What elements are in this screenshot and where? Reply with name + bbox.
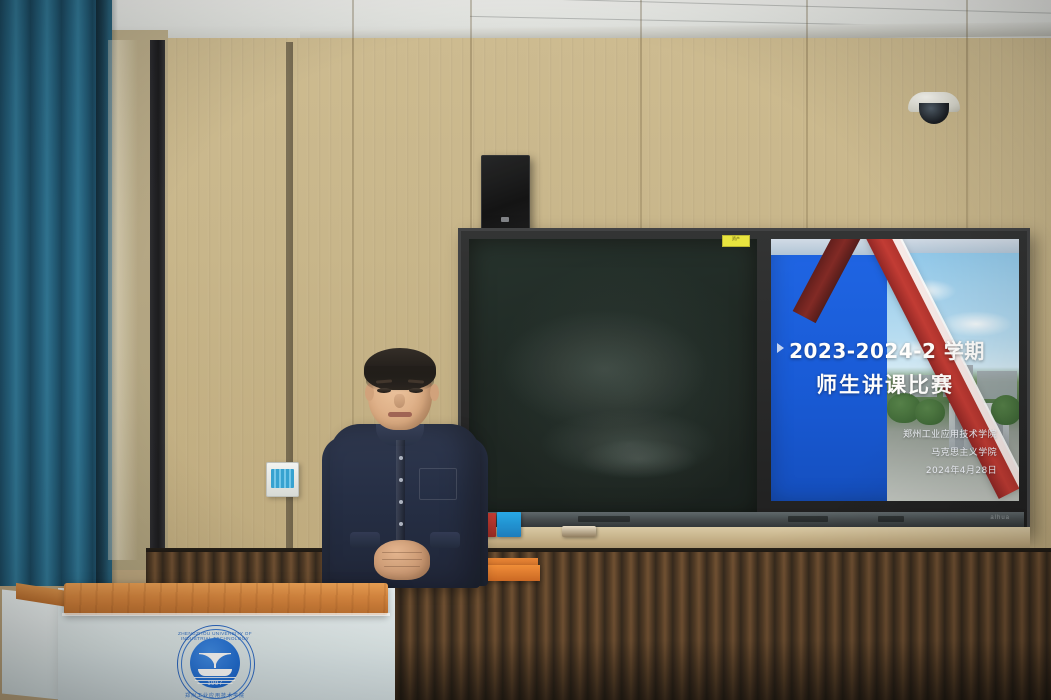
cuff-left bbox=[350, 532, 380, 548]
chalk-tray: alhua bbox=[458, 512, 1024, 527]
dome-camera-icon bbox=[908, 92, 960, 126]
podium-edge-highlight bbox=[62, 613, 390, 616]
asset-label-top: 资产 bbox=[722, 235, 750, 247]
tree bbox=[915, 399, 945, 425]
wall-pillar-trim bbox=[150, 40, 165, 560]
chalkboard bbox=[469, 239, 757, 516]
emblem-book-icon bbox=[198, 669, 232, 676]
slide-org-line-2: 马克思主义学院 bbox=[865, 445, 997, 458]
tray-marking bbox=[788, 516, 828, 522]
shirt-button bbox=[399, 456, 403, 460]
tray-brand-text: alhua bbox=[990, 515, 1010, 521]
emblem-bird-icon bbox=[199, 653, 231, 668]
slide-org-line-1: 郑州工业应用技术学院 bbox=[865, 427, 997, 440]
emblem-year: 1997 bbox=[177, 681, 253, 687]
university-emblem: ZHENGZHOU UNIVERSITY OF INDUSTRIAL TECHN… bbox=[177, 625, 253, 700]
slide-title-line-1: 2023-2024-2 学期 bbox=[771, 335, 1003, 364]
ear-right bbox=[430, 384, 439, 401]
curtain-shadow bbox=[96, 0, 118, 586]
shirt-button bbox=[399, 478, 403, 482]
chalk-box-blue[interactable] bbox=[497, 512, 521, 537]
finger-line bbox=[384, 566, 420, 567]
slide-date-line: 2024年4月28日 bbox=[865, 463, 997, 476]
eye-right bbox=[409, 388, 423, 393]
camera-lens bbox=[919, 103, 949, 124]
finger-line bbox=[382, 559, 422, 560]
emblem-chinese-text: 郑州工业应用技术学院 bbox=[177, 692, 253, 699]
mouth bbox=[388, 412, 412, 417]
hair bbox=[364, 348, 436, 390]
eye-left bbox=[377, 388, 391, 393]
chalk-smudge bbox=[579, 439, 699, 479]
speaker-person bbox=[320, 344, 490, 588]
tray-marking bbox=[578, 516, 630, 522]
shirt-button bbox=[399, 522, 403, 526]
shirt-button bbox=[399, 500, 403, 504]
wall-control-box[interactable] bbox=[266, 462, 299, 497]
clasped-hands bbox=[374, 540, 430, 580]
speaker-led bbox=[501, 217, 509, 222]
blackboard-eraser[interactable] bbox=[562, 526, 596, 537]
lecture-hall-photo: 2023-2024-2 学期 师生讲课比赛 郑州工业应用技术学院 马克思主义学院… bbox=[0, 0, 1051, 700]
finger-line bbox=[382, 552, 422, 553]
podium-wood-top bbox=[64, 583, 388, 615]
wall-speaker-icon bbox=[481, 155, 530, 237]
nose bbox=[394, 394, 405, 408]
blackboard-assembly: 2023-2024-2 学期 师生讲课比赛 郑州工业应用技术学院 马克思主义学院… bbox=[458, 228, 1030, 534]
projected-slide: 2023-2024-2 学期 师生讲课比赛 郑州工业应用技术学院 马克思主义学院… bbox=[771, 239, 1019, 501]
cuff-right bbox=[430, 532, 460, 548]
slide-title-line-2: 师生讲课比赛 bbox=[771, 369, 999, 399]
podium-side-panel bbox=[2, 589, 64, 700]
wall-box-panel bbox=[271, 469, 294, 488]
tray-marking bbox=[878, 516, 904, 522]
shirt-pocket bbox=[419, 468, 457, 500]
